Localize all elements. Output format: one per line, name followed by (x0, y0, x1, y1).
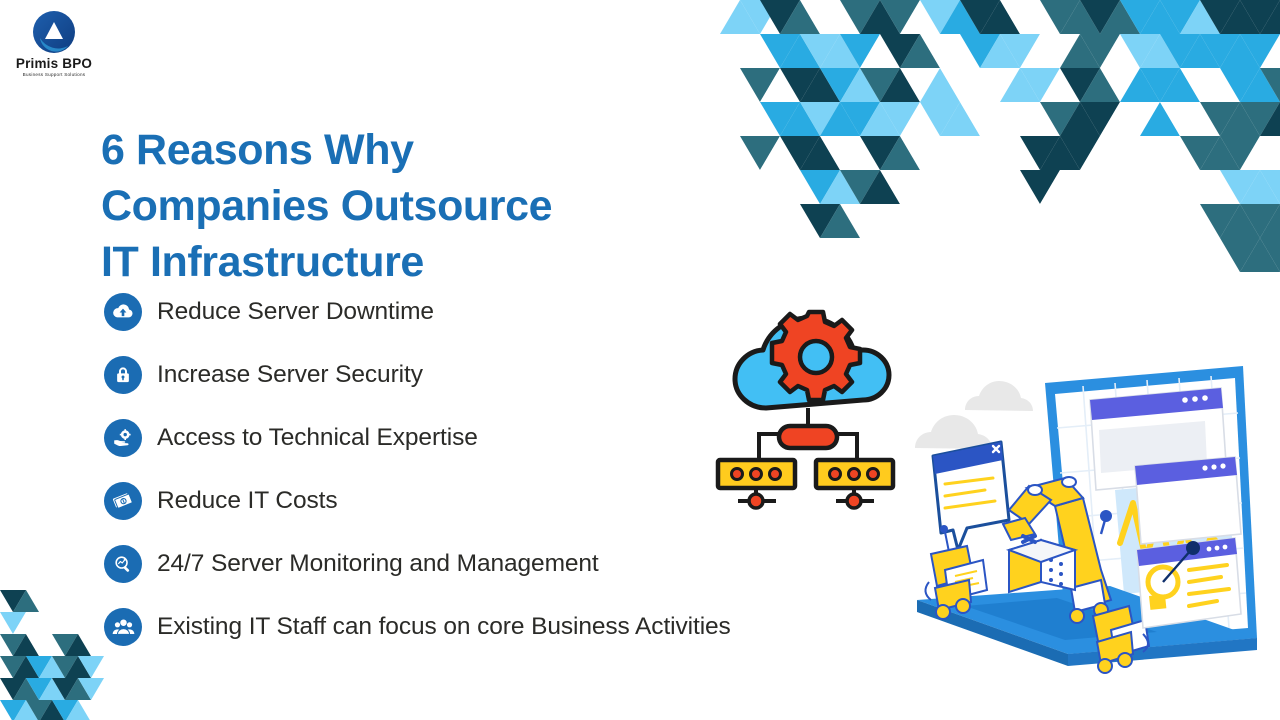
gear-icon (772, 312, 860, 400)
background-clouds (915, 381, 1033, 449)
list-item-label: 24/7 Server Monitoring and Management (157, 550, 599, 578)
people-group-icon (104, 608, 142, 646)
brand-tagline: Business Support Solutions (8, 72, 100, 77)
brand-name: Primis BPO (8, 57, 100, 71)
magnifier-chart-icon (104, 545, 142, 583)
headline-line-1: 6 Reasons Why (101, 123, 681, 179)
list-item: Existing IT Staff can focus on core Busi… (104, 605, 864, 649)
headline-line-2: Companies Outsource (101, 179, 681, 235)
router-bar (779, 426, 837, 448)
list-item: 24/7 Server Monitoring and Management (104, 542, 864, 586)
triangle-group (720, 0, 1280, 272)
list-item-label: Reduce IT Costs (157, 487, 338, 515)
hand-gear-icon (104, 419, 142, 457)
cloud-server-illustration (706, 288, 922, 524)
server-box-right (816, 460, 893, 488)
node-right (847, 494, 861, 508)
list-item-label: Access to Technical Expertise (157, 424, 478, 452)
list-item-label: Reduce Server Downtime (157, 298, 434, 326)
page-title: 6 Reasons Why Companies Outsource IT Inf… (101, 123, 681, 291)
node-left (749, 494, 763, 508)
infographic-canvas: Primis BPO Business Support Solutions 6 … (0, 0, 1280, 720)
list-item-label: Existing IT Staff can focus on core Busi… (157, 613, 731, 641)
headline-line-3: IT Infrastructure (101, 235, 681, 291)
lock-icon (104, 356, 142, 394)
triangle-group (0, 590, 104, 720)
primis-swirl-logo-icon (30, 8, 78, 56)
browser-window-front (1135, 457, 1241, 544)
triangle-mosaic-top-right (700, 0, 1280, 300)
laptop-automation-illustration (905, 338, 1280, 678)
dashboard-card (1137, 538, 1241, 628)
brand-logo[interactable]: Primis BPO Business Support Solutions (8, 8, 100, 77)
list-item-label: Increase Server Security (157, 361, 423, 389)
money-cash-icon (104, 482, 142, 520)
server-box-left (718, 460, 795, 488)
cloud-upload-icon (104, 293, 142, 331)
